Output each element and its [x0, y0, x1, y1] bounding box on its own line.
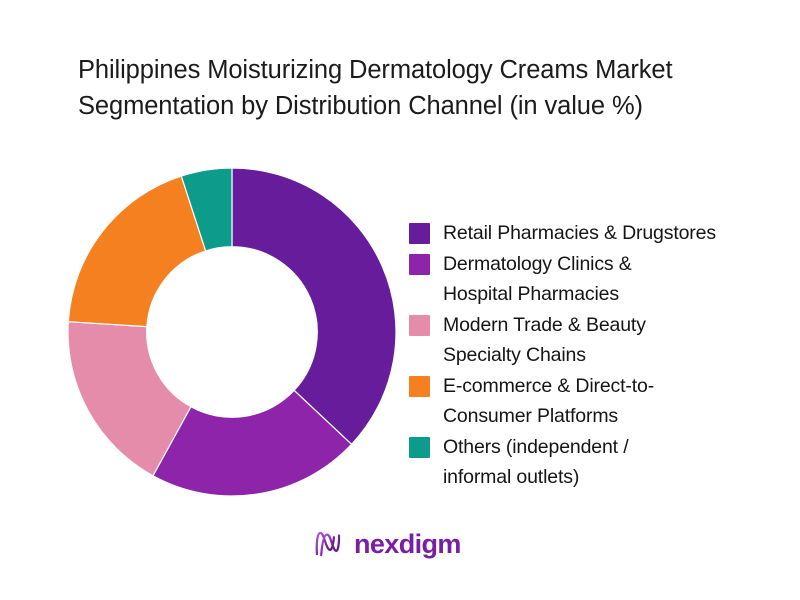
page-title: Philippines Moisturizing Dermatology Cre… [78, 52, 778, 124]
chart-canvas: Philippines Moisturizing Dermatology Cre… [0, 0, 800, 600]
brand-logo: nexdigm [311, 524, 461, 564]
legend-item[interactable]: Dermatology Clinics & Hospital Pharmacie… [409, 249, 794, 309]
legend-item[interactable]: E-commerce & Direct-to- Consumer Platfor… [409, 371, 794, 431]
chart-legend: Retail Pharmacies & DrugstoresDermatolog… [409, 218, 794, 493]
donut-slice[interactable] [68, 176, 205, 327]
legend-item-label: Retail Pharmacies & Drugstores [443, 218, 716, 248]
legend-swatch-icon [409, 223, 430, 244]
legend-swatch-icon [409, 254, 430, 275]
legend-item-label: Dermatology Clinics & Hospital Pharmacie… [443, 249, 632, 309]
legend-item-label: E-commerce & Direct-to- Consumer Platfor… [443, 371, 654, 431]
legend-swatch-icon [409, 437, 430, 458]
brand-name: nexdigm [354, 531, 461, 558]
legend-item[interactable]: Modern Trade & Beauty Specialty Chains [409, 310, 794, 370]
legend-item[interactable]: Others (independent / informal outlets) [409, 432, 794, 492]
legend-item[interactable]: Retail Pharmacies & Drugstores [409, 218, 794, 248]
legend-swatch-icon [409, 376, 430, 397]
legend-item-label: Modern Trade & Beauty Specialty Chains [443, 310, 646, 370]
donut-chart [68, 168, 396, 496]
legend-swatch-icon [409, 315, 430, 336]
donut-slice[interactable] [232, 168, 396, 444]
nexdigm-n-logo-icon [311, 527, 345, 561]
donut-chart-svg [68, 168, 396, 496]
donut-slice-group [68, 168, 396, 496]
legend-item-label: Others (independent / informal outlets) [443, 432, 628, 492]
